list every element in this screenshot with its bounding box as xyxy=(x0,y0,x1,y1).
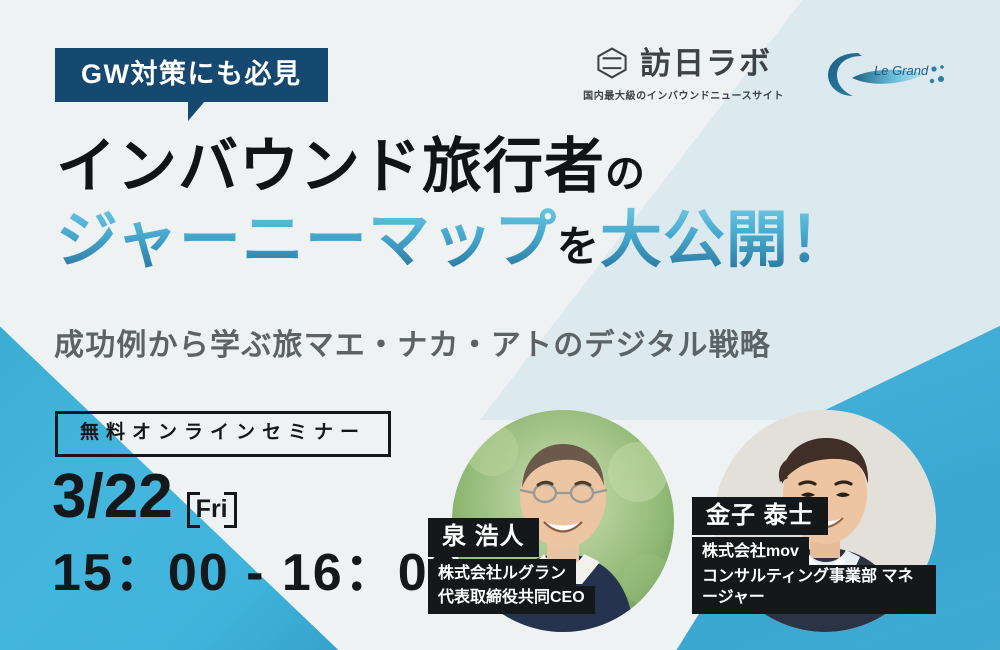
webinar-banner: GW対策にも必見 訪日ラボ 国内最大級のインバウンドニュースサイト xyxy=(0,0,1000,650)
logo-group: 訪日ラボ 国内最大級のインバウンドニュースサイト xyxy=(583,46,962,102)
speaker-1-org: 株式会社ルグラン xyxy=(428,559,576,587)
le-grand-logo[interactable]: Le Grand xyxy=(822,48,962,100)
seminar-type-box: 無料オンラインセミナー xyxy=(55,411,391,457)
seminar-date-row: 3/22 Fri xyxy=(52,466,237,528)
speaker-card-1: 泉 浩人 株式会社ルグラン 代表取締役共同CEO xyxy=(452,410,674,632)
headline-line-1: インバウンド旅行者の xyxy=(56,133,852,200)
svg-text:Le Grand: Le Grand xyxy=(874,63,929,78)
promo-badge-label: GW対策にも必見 xyxy=(55,48,328,102)
promo-badge-tail xyxy=(188,101,205,121)
seminar-day-of-week: Fri xyxy=(187,492,237,528)
seminar-type-label: 無料オンラインセミナー xyxy=(80,422,366,443)
houjitsu-labo-tagline: 国内最大級のインバウンドニュースサイト xyxy=(583,87,784,102)
subtitle: 成功例から学ぶ旅マエ・ナカ・アトのデジタル戦略 xyxy=(54,320,771,364)
headline-line-2-part-2: 大公開！ xyxy=(600,206,852,275)
speaker-2-role: コンサルティング事業部 マネージャー xyxy=(692,565,936,614)
seminar-time: 15：00 - 16：00 xyxy=(52,547,460,599)
promo-badge: GW対策にも必見 xyxy=(55,48,328,102)
speaker-2-name: 金子 泰士 xyxy=(692,497,828,536)
speaker-1-caption: 泉 浩人 株式会社ルグラン 代表取締役共同CEO xyxy=(428,518,595,614)
speaker-2-org: 株式会社mov xyxy=(692,537,809,565)
headline-line-2-part-1: ジャーニーマップ xyxy=(56,206,557,275)
hexagon-icon xyxy=(595,46,629,80)
headline: インバウンド旅行者の ジャーニーマップを大公開！ xyxy=(56,133,852,277)
crescent-swoosh-icon: Le Grand xyxy=(822,48,962,100)
headline-line-1-main: インバウンド旅行者 xyxy=(56,133,605,200)
speaker-card-2: 金子 泰士 株式会社mov コンサルティング事業部 マネージャー xyxy=(714,410,936,632)
houjitsu-labo-logo[interactable]: 訪日ラボ 国内最大級のインバウンドニュースサイト xyxy=(583,46,784,102)
speaker-1-name: 泉 浩人 xyxy=(428,518,539,557)
houjitsu-labo-name: 訪日ラボ xyxy=(640,48,772,79)
speaker-2-caption: 金子 泰士 株式会社mov コンサルティング事業部 マネージャー xyxy=(692,497,936,614)
seminar-date: 3/22 xyxy=(52,466,173,528)
headline-line-2-particle: を xyxy=(557,223,600,270)
headline-line-1-particle: の xyxy=(605,152,646,196)
headline-line-2: ジャーニーマップを大公開！ xyxy=(56,204,852,277)
speaker-1-role: 代表取締役共同CEO xyxy=(428,586,595,614)
